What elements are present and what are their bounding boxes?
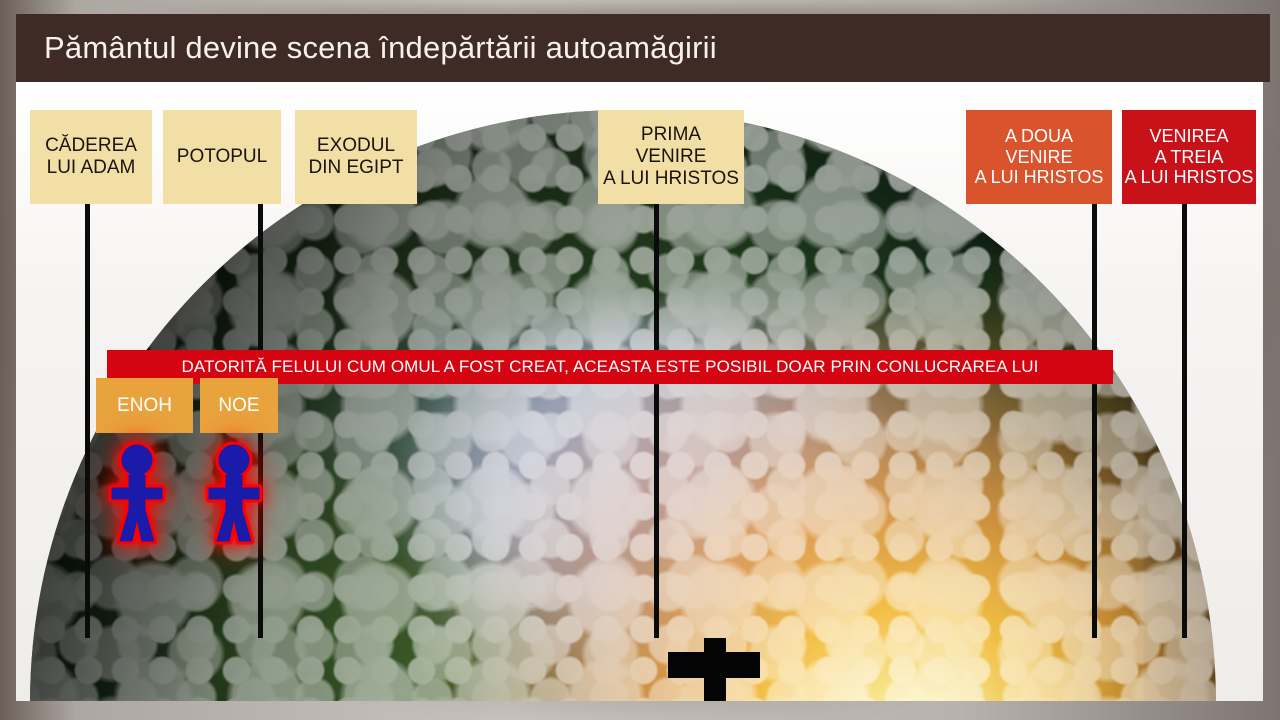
event-box-label: A LUI HRISTOS [603, 168, 739, 190]
stick-figure-icon-enoh [106, 442, 168, 552]
event-box-label: VENIRE [636, 146, 707, 168]
event-box-label: VENIRE [1005, 147, 1072, 168]
event-box-prima-venire-a-lui-hristos[interactable]: PRIMAVENIREA LUI HRISTOS [598, 110, 744, 204]
event-box-label: A LUI HRISTOS [975, 167, 1104, 188]
event-box-label: LUI ADAM [47, 157, 136, 179]
event-box-venirea-a-treia-a-lui-hristos[interactable]: VENIREAA TREIAA LUI HRISTOS [1122, 110, 1256, 204]
event-box-label: DIN EGIPT [308, 157, 403, 179]
event-box-potopul[interactable]: POTOPUL [163, 110, 281, 204]
event-box-label: CĂDEREA [45, 135, 137, 157]
person-box-noe[interactable]: NOE [200, 378, 278, 433]
event-box-label: A DOUA [1005, 126, 1073, 147]
slide-stage: Pământul devine scena îndepărtării autoa… [0, 0, 1280, 720]
event-box-label: PRIMA [641, 124, 701, 146]
event-box-label: POTOPUL [177, 146, 267, 168]
person-box-label: NOE [218, 395, 259, 417]
rule-prima-venire [654, 204, 659, 638]
event-box-label: A TREIA [1155, 147, 1224, 168]
person-box-label: ENOH [117, 395, 172, 417]
cross-stem [704, 638, 726, 701]
content-panel: CĂDEREALUI ADAMPOTOPULEXODULDIN EGIPTPRI… [16, 82, 1263, 701]
title-bar: Pământul devine scena îndepărtării autoa… [16, 14, 1270, 82]
stick-figure-icon-noe [203, 442, 265, 552]
rule-adam [85, 204, 90, 638]
page-title: Pământul devine scena îndepărtării autoa… [44, 30, 717, 66]
rule-a-doua-venire [1092, 204, 1097, 638]
conclusion-banner-text: DATORITĂ FELULUI CUM OMUL A FOST CREAT, … [182, 357, 1039, 377]
event-box-exodul-din-egipt[interactable]: EXODULDIN EGIPT [295, 110, 417, 204]
event-box-label: A LUI HRISTOS [1125, 167, 1254, 188]
rule-a-treia-venire [1182, 204, 1187, 638]
event-box-caderea-lui-adam[interactable]: CĂDEREALUI ADAM [30, 110, 152, 204]
event-box-label: EXODUL [317, 135, 395, 157]
event-box-label: VENIREA [1149, 126, 1228, 147]
cross-icon [668, 638, 760, 701]
person-box-enoh[interactable]: ENOH [96, 378, 193, 433]
event-box-a-doua-venire-a-lui-hristos[interactable]: A DOUAVENIREA LUI HRISTOS [966, 110, 1112, 204]
